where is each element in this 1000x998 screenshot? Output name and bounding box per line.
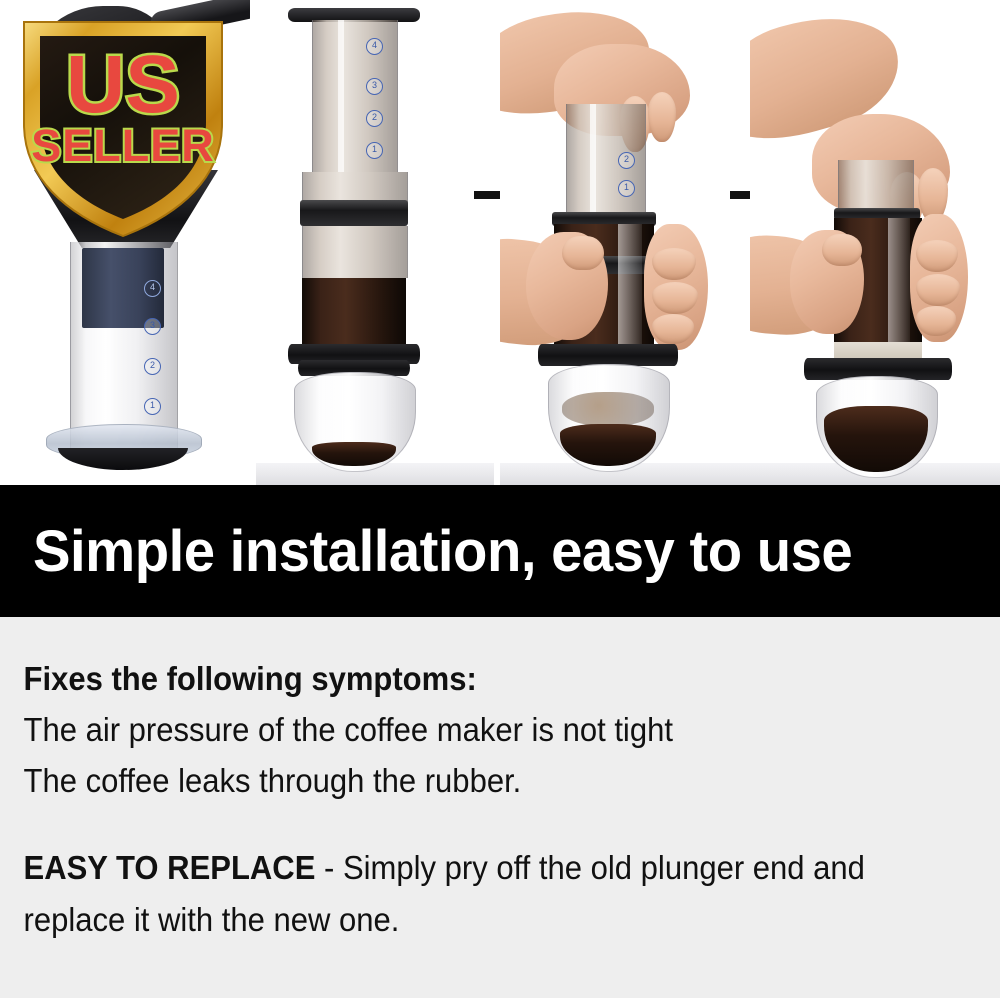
plunger-tube xyxy=(838,160,914,212)
symptom-item-1: The air pressure of the coffee maker is … xyxy=(0,704,940,755)
graduation-2: 2 xyxy=(144,358,161,375)
graduation-4: 4 xyxy=(366,38,383,55)
chamber-highlight xyxy=(888,218,910,346)
photo-panel-hands-pressing-plunger: 2 1 xyxy=(500,0,750,485)
lower-thumb xyxy=(822,234,862,266)
arrow-right-2-icon xyxy=(472,172,500,218)
symptom-item-2: The coffee leaks through the rubber. xyxy=(0,755,940,806)
coffee-drips xyxy=(562,392,654,426)
symptoms-heading: Fixes the following symptoms: xyxy=(0,653,940,704)
photo-strip: 4 3 2 1 4 3 2 1 xyxy=(0,0,1000,485)
filter-cap xyxy=(538,344,678,366)
graduation-1: 1 xyxy=(144,398,161,415)
product-listing-image: 4 3 2 1 4 3 2 1 xyxy=(0,0,1000,998)
graduation-3: 3 xyxy=(366,78,383,95)
easy-to-replace-label: EASY TO REPLACE xyxy=(24,849,316,886)
graduation-1: 1 xyxy=(618,180,635,197)
plunger-rib xyxy=(338,20,344,172)
upper-finger-2 xyxy=(648,92,676,142)
spacer xyxy=(0,806,1000,842)
headline-banner: Simple installation, easy to use xyxy=(0,485,1000,617)
headline-text: Simple installation, easy to use xyxy=(0,518,852,585)
info-section: Fixes the following symptoms: The air pr… xyxy=(0,617,1000,998)
easy-to-replace-paragraph: EASY TO REPLACE - Simply pry off the old… xyxy=(0,842,926,946)
us-seller-badge: US SELLER xyxy=(12,6,234,241)
seal-underside xyxy=(58,448,188,470)
graduation-3: 3 xyxy=(144,318,161,335)
plunger-seal-ring xyxy=(300,200,408,226)
badge-seller-text: SELLER xyxy=(31,120,215,171)
photo-panel-aeropress-assembled-on-cup: 4 3 2 1 xyxy=(250,0,500,485)
chamber-mid xyxy=(302,226,408,278)
brewed-coffee xyxy=(302,278,406,348)
graduation-4: 4 xyxy=(144,280,161,297)
arrow-right-3-icon xyxy=(728,172,750,218)
lower-thumb xyxy=(562,236,604,270)
graduation-2: 2 xyxy=(618,152,635,169)
plunger-rib xyxy=(590,104,596,216)
chamber-highlight xyxy=(618,224,642,344)
badge-us-text: US xyxy=(66,39,180,130)
graduation-1: 1 xyxy=(366,142,383,159)
graduation-2: 2 xyxy=(366,110,383,127)
plunger-tube xyxy=(312,20,398,172)
photo-panel-finished-cup-of-coffee xyxy=(750,0,1000,485)
